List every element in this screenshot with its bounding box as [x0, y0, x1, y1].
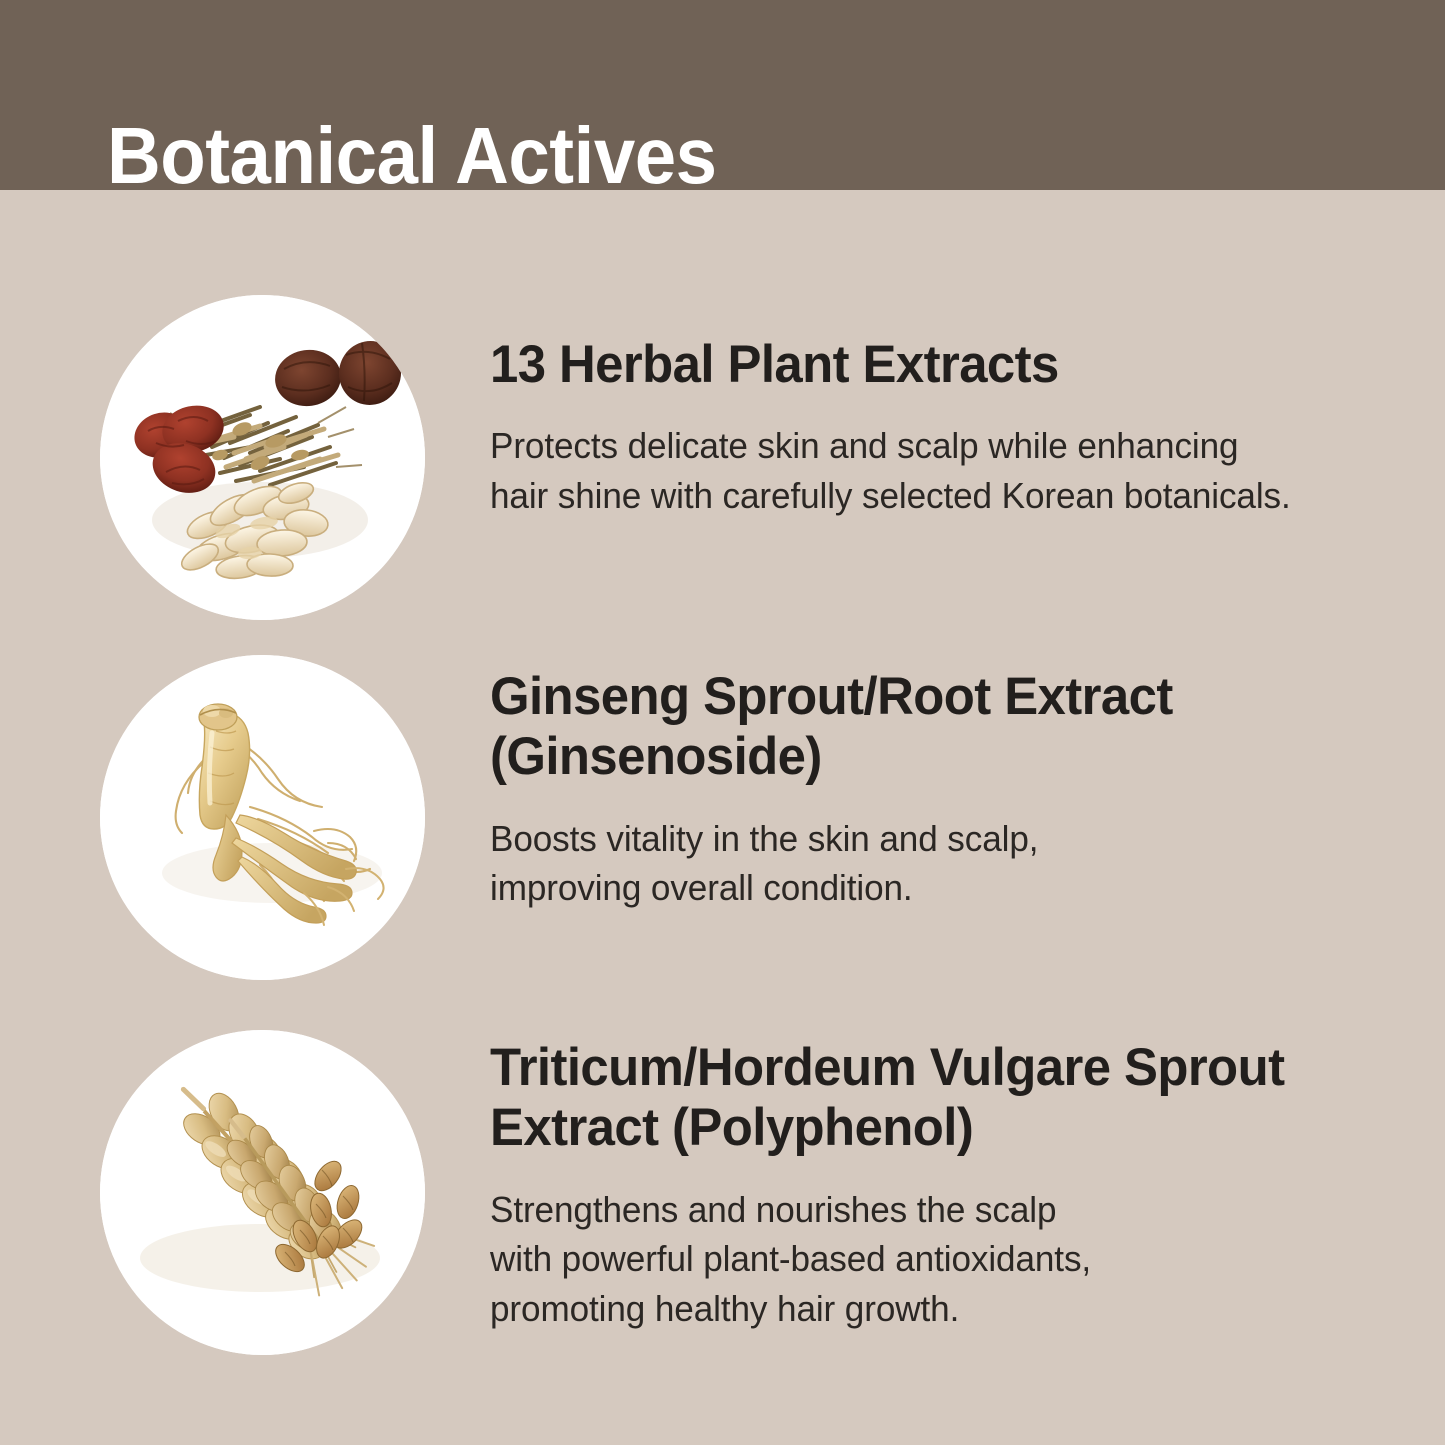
description-line: with powerful plant-based antioxidants, [490, 1234, 1363, 1284]
page-header: Botanical Actives [0, 0, 1445, 190]
feature-item-herbal-extracts: 13 Herbal Plant Extracts Protects delica… [0, 295, 1445, 620]
feature-copy: 13 Herbal Plant Extracts Protects delica… [490, 295, 1445, 521]
description-line: Strengthens and nourishes the scalp [490, 1185, 1363, 1235]
description-line: improving overall condition. [490, 863, 1363, 913]
ginseng-root-photo [100, 655, 425, 980]
wheat-barley-sprout-photo [100, 1030, 425, 1355]
feature-description: Strengthens and nourishes the scalp with… [490, 1185, 1363, 1334]
feature-copy: Triticum/Hordeum Vulgare Sprout Extract … [490, 1030, 1445, 1334]
feature-description: Boosts vitality in the skin and scalp, i… [490, 814, 1363, 913]
feature-title: Triticum/Hordeum Vulgare Sprout Extract … [490, 1030, 1349, 1159]
page-title: Botanical Actives [107, 116, 717, 196]
botanical-actives-page: Botanical Actives [0, 0, 1445, 1445]
feature-description: Protects delicate skin and scalp while e… [490, 421, 1363, 520]
feature-copy: Ginseng Sprout/Root Extract (Ginsenoside… [490, 655, 1445, 913]
description-line: hair shine with carefully selected Korea… [490, 471, 1363, 521]
feature-title: Ginseng Sprout/Root Extract (Ginsenoside… [490, 655, 1349, 788]
feature-item-wheat-extract: Triticum/Hordeum Vulgare Sprout Extract … [0, 1030, 1445, 1355]
feature-item-ginseng-extract: Ginseng Sprout/Root Extract (Ginsenoside… [0, 655, 1445, 980]
description-line: promoting healthy hair growth. [490, 1284, 1363, 1334]
herbal-plant-extracts-photo [100, 295, 425, 620]
description-line: Boosts vitality in the skin and scalp, [490, 814, 1363, 864]
description-line: Protects delicate skin and scalp while e… [490, 421, 1363, 471]
feature-title: 13 Herbal Plant Extracts [490, 295, 1349, 395]
